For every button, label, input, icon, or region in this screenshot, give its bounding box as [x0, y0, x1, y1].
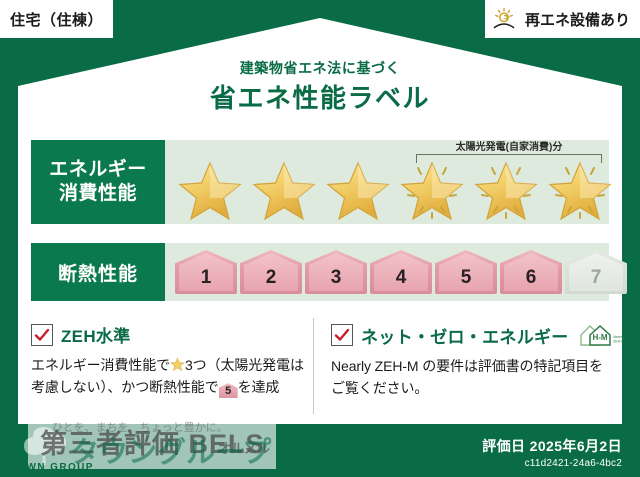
chip-label: 5 [461, 267, 472, 289]
energy-performance-label: 住宅（住棟） 再エネ設備あり 建築物省エネ法に基づく 省エネ性能ラベル エネルギ… [0, 0, 640, 477]
energy-label-line2: 消費性能 [59, 182, 137, 206]
check-icon [34, 327, 50, 343]
insulation-level-chips: 1 2 3 4 5 6 7 [165, 250, 627, 294]
insulation-chip-1: 1 [175, 250, 237, 294]
evaluation-date-label: 評価日 [482, 438, 525, 454]
chip-label: 3 [331, 267, 342, 289]
star-cell-solar [469, 162, 543, 222]
evaluation-date-value: 2025年6月2日 [530, 438, 622, 454]
star-icon [177, 161, 243, 223]
net-zero-checkbox [331, 324, 353, 346]
insulation-chip-5: 5 [435, 250, 497, 294]
energy-performance-value: 太陽光発電(自家消費)分 [165, 140, 609, 224]
evaluation-date: 評価日 2025年6月2日 [482, 436, 622, 456]
net-zero-description: Nearly ZEH-M の要件は評価書の特記項目をご覧ください。 [331, 355, 605, 399]
star-row [165, 162, 609, 222]
inline-insulation-chip: 5 [219, 383, 238, 398]
renewable-badge-label: 再エネ設備あり [525, 9, 630, 30]
label-title: 省エネ性能ラベル [0, 78, 640, 115]
insulation-chip-6: 6 [500, 250, 562, 294]
net-zero-energy-section: ネット・ゼロ・エネルギー H-M Nearly ZEH-M Nearly ZEH… [331, 322, 605, 399]
energy-label-line1: エネルギー [49, 158, 147, 182]
zeh-description-part3: を達成 [238, 379, 280, 395]
star-icon [473, 161, 539, 223]
bottom-columns-divider [313, 318, 314, 414]
energy-performance-label: エネルギー 消費性能 [31, 140, 165, 224]
zeh-checkbox [31, 324, 53, 346]
sun-icon [493, 7, 519, 31]
insulation-chip-7: 7 [565, 250, 627, 294]
insulation-chip-3: 3 [305, 250, 367, 294]
zeh-description-part1: エネルギー消費性能で [31, 357, 170, 373]
insulation-performance-row: 断熱性能 1 2 3 4 5 6 7 [31, 243, 609, 301]
zeh-m-logo-icon: H-M Nearly ZEH-M [577, 322, 623, 348]
chip-label: 7 [591, 267, 602, 289]
chip-label: 1 [201, 267, 212, 289]
net-zero-heading: ネット・ゼロ・エネルギー H-M Nearly ZEH-M [331, 322, 605, 348]
energy-performance-row: エネルギー 消費性能 太陽光発電(自家消費)分 [31, 140, 609, 224]
chip-label: 4 [396, 267, 407, 289]
zeh-m-logo-caption-1: Nearly [613, 335, 623, 339]
star-cell [173, 162, 247, 222]
check-icon [334, 327, 350, 343]
star-cell [321, 162, 395, 222]
renewable-energy-badge: 再エネ設備あり [485, 0, 640, 38]
chip-label: 2 [266, 267, 277, 289]
insulation-chip-2: 2 [240, 250, 302, 294]
star-icon [547, 161, 613, 223]
star-icon [399, 161, 465, 223]
star-rating: 太陽光発電(自家消費)分 [165, 140, 609, 224]
zeh-m-logo-mark: H-M [592, 333, 607, 342]
inline-star-icon [170, 357, 185, 372]
label-subtitle: 建築物省エネ法に基づく [0, 58, 640, 78]
star-icon [251, 161, 317, 223]
zeh-title: ZEH水準 [61, 322, 131, 347]
building-type-tag: 住宅（住棟） [0, 0, 113, 38]
building-type-label: 住宅（住棟） [10, 9, 103, 30]
label-id: c11d2421-24a6-4bc2 [482, 458, 622, 469]
zeh-standard-section: ZEH水準 エネルギー消費性能で3つ（太陽光発電は考慮しない）、かつ断熱性能で5… [31, 322, 305, 398]
insulation-performance-value: 1 2 3 4 5 6 7 [165, 243, 627, 301]
zeh-m-logo-caption-2: ZEH-M [613, 340, 623, 344]
chip-label: 6 [526, 267, 537, 289]
net-zero-title: ネット・ゼロ・エネルギー [361, 323, 569, 348]
star-icon [325, 161, 391, 223]
insulation-chip-4: 4 [370, 250, 432, 294]
insulation-label-text: 断熱性能 [58, 259, 138, 286]
star-cell-solar [543, 162, 617, 222]
solar-annotation-label: 太陽光発電(自家消費)分 [403, 138, 615, 153]
star-cell [247, 162, 321, 222]
label-footer: 評価日 2025年6月2日 c11d2421-24a6-4bc2 [482, 436, 622, 469]
insulation-performance-label: 断熱性能 [31, 243, 165, 301]
zeh-description: エネルギー消費性能で3つ（太陽光発電は考慮しない）、かつ断熱性能で5を達成 [31, 354, 305, 398]
zeh-heading: ZEH水準 [31, 322, 305, 347]
star-cell-solar [395, 162, 469, 222]
